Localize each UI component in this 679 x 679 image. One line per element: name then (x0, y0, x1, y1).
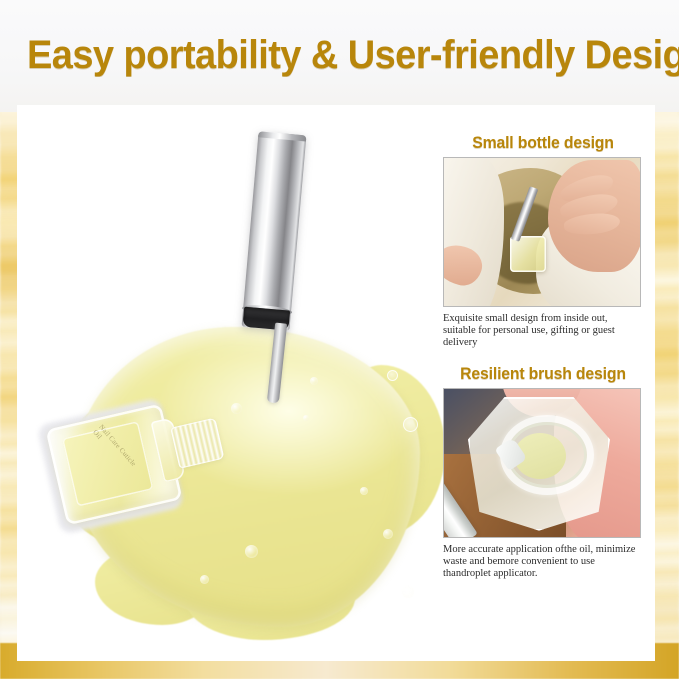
hero-product-image: Nail Care Cuticle Oil (35, 115, 443, 655)
panel-resilient-brush-design: Resilient brush design More accurate app… (443, 364, 643, 581)
panel-caption: More accurate application ofthe oil, min… (443, 544, 639, 581)
oil-bubble (200, 575, 209, 584)
panel-small-bottle-design: Small bottle design Exquisite small desi… (443, 133, 643, 350)
panel-caption: Exquisite small design from inside out, … (443, 313, 639, 350)
oil-bubble (245, 545, 258, 558)
oil-bubble (310, 377, 318, 385)
cap-tube (242, 131, 307, 330)
header: Easy portability & User-friendly Design (0, 0, 679, 105)
page-title: Easy portability & User-friendly Design (27, 32, 679, 78)
oil-highlight (403, 417, 418, 432)
panel-heading: Resilient brush design (447, 364, 639, 384)
content-card: Nail Care Cuticle Oil Small bottle desig… (17, 105, 655, 661)
oil-highlight (387, 370, 398, 381)
product-infographic: Easy portability & User-friendly Design (0, 0, 679, 679)
panel-photo-small-bottle (443, 157, 641, 307)
bottle-threaded-neck (170, 418, 224, 469)
bottle-cap (242, 131, 307, 330)
oil-highlight (401, 585, 415, 599)
oil-bubble (383, 529, 393, 539)
oil-bubble (360, 487, 368, 495)
feature-panels: Small bottle design Exquisite small desi… (443, 133, 643, 580)
oil-bubble (231, 403, 242, 414)
panel-photo-brush (443, 388, 641, 538)
garment-left (443, 157, 504, 307)
oil-bubble (303, 415, 309, 421)
panel-heading: Small bottle design (447, 133, 639, 153)
bottle-in-bag (510, 236, 546, 272)
